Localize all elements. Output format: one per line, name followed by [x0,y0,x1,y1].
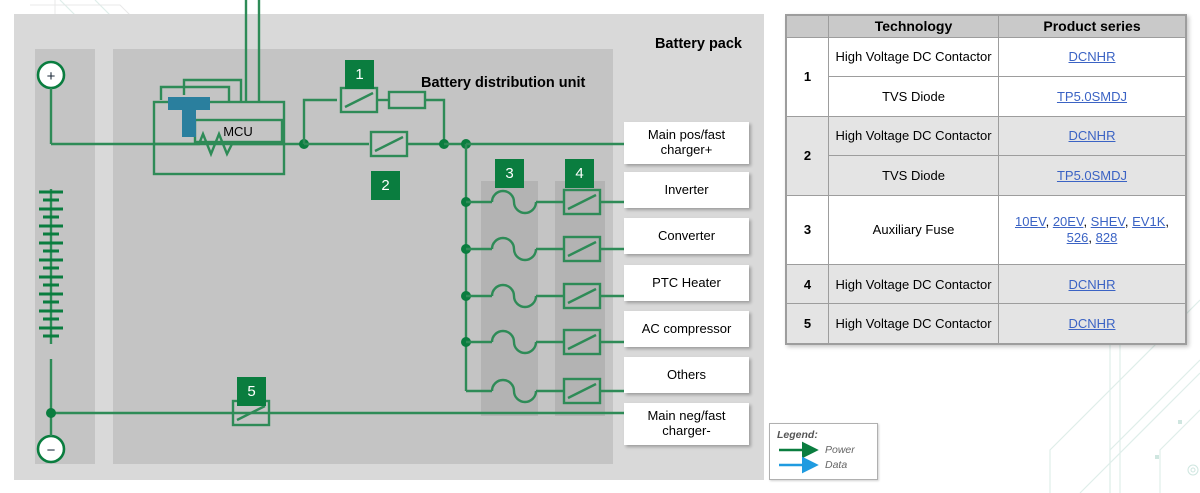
legend-label-data: Data [825,459,847,471]
table-cell-series: 10EV, 20EV, SHEV, EV1K, 526, 828 [999,195,1186,264]
sep: , [1165,214,1169,229]
table-cell-technology: High Voltage DC Contactor [829,37,999,77]
load-label-others: Others [624,357,749,393]
table-cell-index: 4 [787,264,829,304]
table-cell-technology: High Voltage DC Contactor [829,304,999,344]
table-row: 3 Auxiliary Fuse 10EV, 20EV, SHEV, EV1K,… [787,195,1186,264]
badge-5[interactable]: 5 [237,377,266,406]
series-link[interactable]: DCNHR [1069,277,1116,292]
series-link[interactable]: TP5.0SMDJ [1057,168,1127,183]
load-label-converter: Converter [624,218,749,254]
table-cell-index: 1 [787,37,829,116]
table-header-product-series: Product series [999,16,1186,38]
series-link[interactable]: SHEV [1091,214,1125,229]
load-label-ac-compressor: AC compressor [624,311,749,347]
load-label-inverter: Inverter [624,172,749,208]
table-cell-series: TP5.0SMDJ [999,77,1186,117]
positive-terminal-symbol: + [47,68,56,85]
legend-label-power: Power [825,444,855,456]
negative-terminal-symbol: − [47,442,56,459]
table-row: 4 High Voltage DC Contactor DCNHR [787,264,1186,304]
series-link[interactable]: 20EV [1053,214,1084,229]
badge-4[interactable]: 4 [565,159,594,188]
table-row: 5 High Voltage DC Contactor DCNHR [787,304,1186,344]
table-cell-technology: TVS Diode [829,156,999,196]
diagram-panel: Battery pack Battery distribution unit [14,14,764,480]
table-cell-index: 5 [787,304,829,344]
table-cell-series: DCNHR [999,304,1186,344]
mcu-label: MCU [223,124,253,139]
table-row: TVS Diode TP5.0SMDJ [787,77,1186,117]
table-header-technology: Technology [829,16,999,38]
badge-2[interactable]: 2 [371,171,400,200]
sep: , [1046,214,1053,229]
series-link[interactable]: DCNHR [1069,316,1116,331]
load-label-main-neg: Main neg/fast charger- [624,403,749,445]
table-row: TVS Diode TP5.0SMDJ [787,156,1186,196]
table-cell-series: DCNHR [999,116,1186,156]
series-link[interactable]: 828 [1096,230,1118,245]
table-cell-technology: Auxiliary Fuse [829,195,999,264]
table-cell-technology: TVS Diode [829,77,999,117]
sep: , [1083,214,1090,229]
diagram-page: Battery pack Battery distribution unit [0,0,1200,493]
table-cell-index: 3 [787,195,829,264]
table-cell-series: TP5.0SMDJ [999,156,1186,196]
badge-3[interactable]: 3 [495,159,524,188]
legend-arrows [770,424,877,479]
table-cell-technology: High Voltage DC Contactor [829,116,999,156]
table-cell-series: DCNHR [999,264,1186,304]
load-label-ptc-heater: PTC Heater [624,265,749,301]
table-cell-index: 2 [787,116,829,195]
load-label-main-pos: Main pos/fast charger+ [624,122,749,164]
legend: Legend: Power Data [769,423,878,480]
badge-1[interactable]: 1 [345,60,374,89]
table-header-index [787,16,829,38]
table-cell-technology: High Voltage DC Contactor [829,264,999,304]
table-cell-series: DCNHR [999,37,1186,77]
series-link[interactable]: DCNHR [1069,49,1116,64]
table-header-row: Technology Product series [787,16,1186,38]
series-link[interactable]: TP5.0SMDJ [1057,89,1127,104]
sep: , [1088,230,1095,245]
product-table: Technology Product series 1 High Voltage… [785,14,1187,345]
table-row: 1 High Voltage DC Contactor DCNHR [787,37,1186,77]
series-link[interactable]: 526 [1067,230,1089,245]
series-link[interactable]: EV1K [1132,214,1165,229]
series-link[interactable]: 10EV [1015,214,1046,229]
table-row: 2 High Voltage DC Contactor DCNHR [787,116,1186,156]
series-link[interactable]: DCNHR [1069,128,1116,143]
